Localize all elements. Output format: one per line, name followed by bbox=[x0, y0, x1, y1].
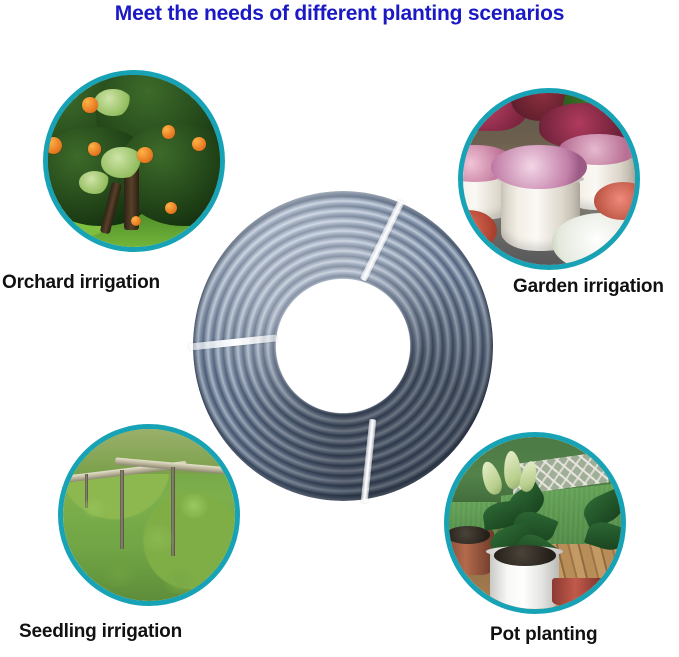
foliage-speck bbox=[80, 498, 108, 519]
orange-fruit bbox=[162, 125, 176, 139]
orange-fruit bbox=[131, 216, 141, 226]
orange-fruit bbox=[192, 137, 206, 151]
hose-coil-center-hole bbox=[286, 287, 400, 405]
scenario-caption-garden: Garden irrigation bbox=[513, 276, 664, 298]
lit-leaf bbox=[101, 147, 142, 178]
orange-fruit bbox=[137, 147, 152, 162]
red-saucer bbox=[552, 578, 604, 606]
foliage-speck bbox=[139, 525, 177, 553]
trellis-post bbox=[120, 470, 124, 549]
potting-soil bbox=[494, 545, 556, 566]
foliage-speck bbox=[97, 556, 142, 587]
page-title: Meet the needs of different planting sce… bbox=[0, 2, 679, 26]
scenario-caption-seedling: Seedling irrigation bbox=[19, 621, 182, 643]
product-hose-coil bbox=[193, 191, 493, 501]
flower-cluster bbox=[491, 145, 587, 190]
scenario-caption-pot: Pot planting bbox=[490, 624, 597, 646]
orange-fruit bbox=[82, 97, 97, 112]
white-flower-bed bbox=[552, 213, 635, 265]
foliage-speck bbox=[159, 567, 200, 595]
lit-leaf bbox=[79, 171, 110, 193]
scenario-caption-orchard: Orchard irrigation bbox=[2, 272, 160, 294]
orange-fruit bbox=[88, 142, 102, 156]
